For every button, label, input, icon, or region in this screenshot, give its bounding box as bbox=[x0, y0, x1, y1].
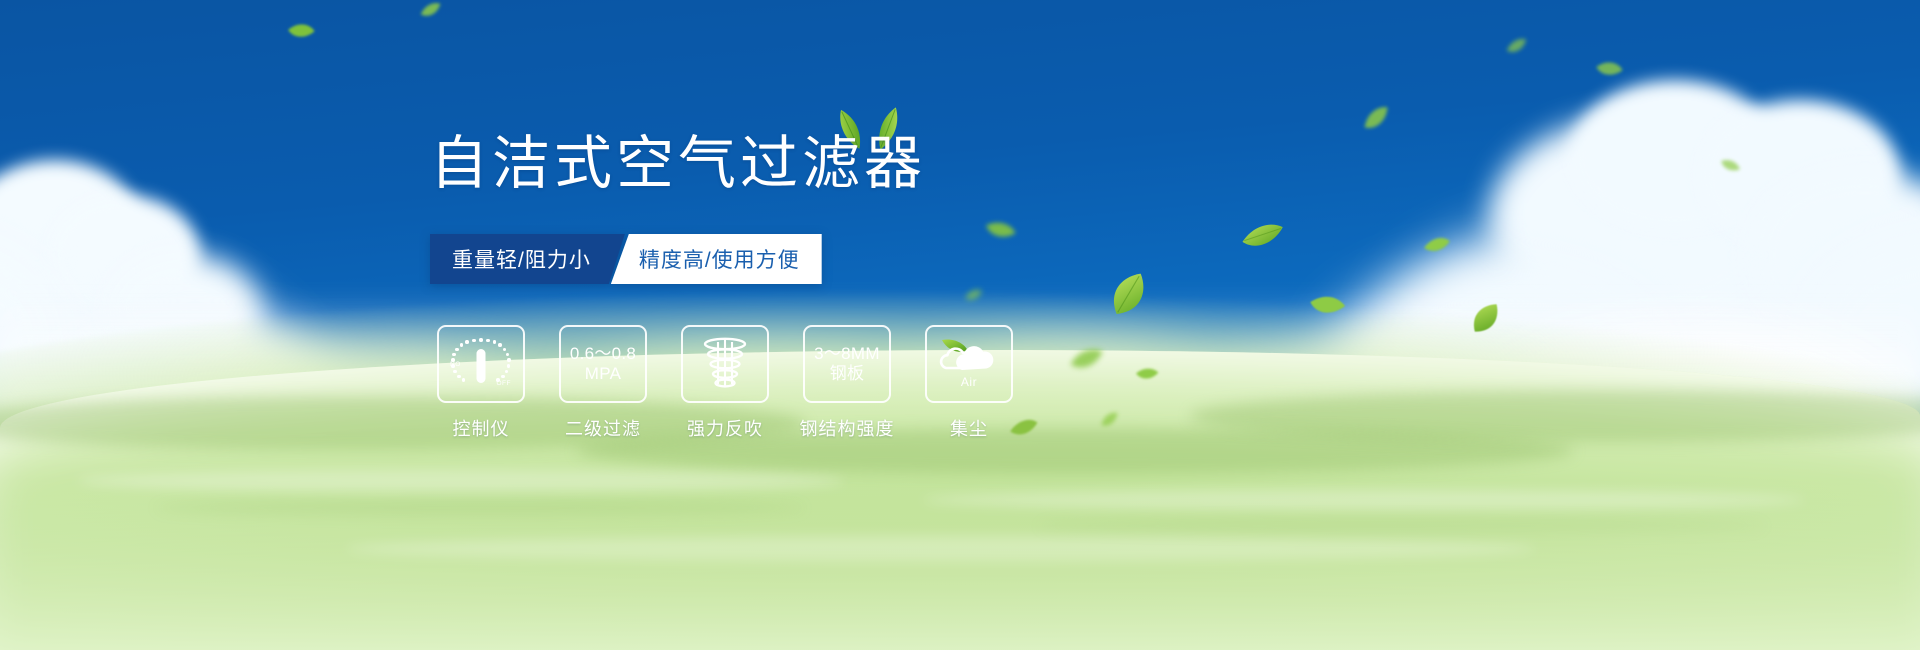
feature-icon-box: Air bbox=[925, 325, 1013, 403]
gauge-needle bbox=[477, 349, 486, 383]
pressure-value: 0.6～0.8 bbox=[570, 344, 636, 363]
gauge-label-no: NO bbox=[450, 361, 461, 369]
feature-caption: 集尘 bbox=[950, 415, 988, 441]
cloud-air-icon bbox=[938, 338, 1000, 374]
banner-title: 自洁式空气过滤器 bbox=[430, 134, 926, 195]
gauge-label-off: OFF bbox=[497, 380, 512, 388]
feature-caption: 强力反吹 bbox=[687, 415, 763, 441]
steel-thickness: 3～8MM bbox=[814, 344, 880, 363]
subtitle-right-chip: 精度高/使用方便 bbox=[611, 234, 822, 284]
feature-caption: 二级过滤 bbox=[565, 415, 641, 441]
feature-item-dust-collection[interactable]: Air 集尘 bbox=[924, 325, 1014, 441]
pressure-unit: MPA bbox=[570, 364, 636, 384]
gauge-dial-icon: NO OFF bbox=[453, 337, 509, 391]
feature-item-pressure[interactable]: 0.6～0.8 MPA 二级过滤 bbox=[558, 325, 648, 441]
product-hero-banner: 自洁式空气过滤器 重量轻/阻力小 精度高/使用方便 bbox=[0, 0, 1920, 650]
subtitle-left-chip: 重量轻/阻力小 bbox=[430, 234, 625, 284]
air-label: Air bbox=[961, 375, 977, 389]
feature-item-control-gauge[interactable]: NO OFF 控制仪 bbox=[436, 325, 526, 441]
subtitle-bar: 重量轻/阻力小 精度高/使用方便 bbox=[430, 234, 822, 284]
coil-spring-icon bbox=[698, 336, 752, 392]
feature-item-steel-plate[interactable]: 3～8MM 钢板 钢结构强度 bbox=[802, 325, 892, 441]
feature-caption: 钢结构强度 bbox=[800, 415, 895, 441]
pressure-text-icon: 0.6～0.8 MPA bbox=[570, 344, 636, 384]
feature-icon-box: NO OFF bbox=[437, 325, 525, 403]
feature-icon-box: 3～8MM 钢板 bbox=[803, 325, 891, 403]
feature-list: NO OFF 控制仪 0.6～0.8 MPA 二级过滤 bbox=[436, 325, 1014, 441]
feature-caption: 控制仪 bbox=[453, 415, 510, 441]
feature-icon-box bbox=[681, 325, 769, 403]
steel-material: 钢板 bbox=[814, 364, 880, 384]
feature-item-blowback[interactable]: 强力反吹 bbox=[680, 325, 770, 441]
feature-icon-box: 0.6～0.8 MPA bbox=[559, 325, 647, 403]
steel-plate-text-icon: 3～8MM 钢板 bbox=[814, 344, 880, 384]
